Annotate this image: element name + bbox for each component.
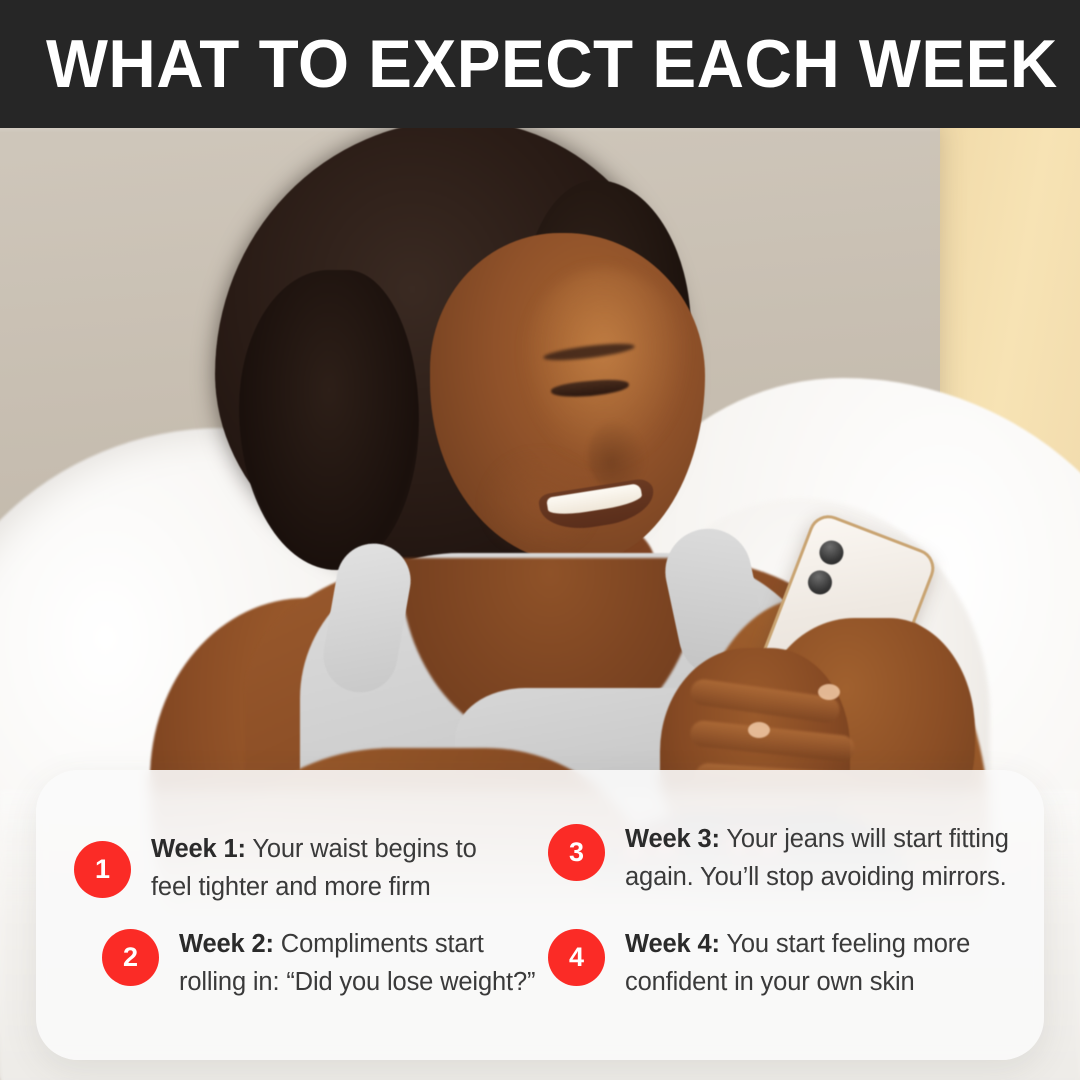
camera-lens-icon <box>816 537 847 568</box>
header-bar: WHAT TO EXPECT EACH WEEK <box>0 0 1080 128</box>
week-badge-3: 3 <box>548 824 605 881</box>
week-badge-1: 1 <box>74 841 131 898</box>
week-badge-4: 4 <box>548 929 605 986</box>
week-label-3: Week 3: <box>625 825 720 853</box>
week-text-4: Week 4: You start feeling more confident… <box>625 925 1014 1001</box>
page-title: WHAT TO EXPECT EACH WEEK <box>46 30 1058 98</box>
week-label-4: Week 4: <box>625 930 720 958</box>
week-text-1: Week 1: Your waist begins to feel tighte… <box>151 830 521 906</box>
fingernail <box>818 684 840 700</box>
weeks-card: 1 Week 1: Your waist begins to feel tigh… <box>36 770 1044 1060</box>
week-item-2: 2 Week 2: Compliments start rolling in: … <box>74 915 540 1018</box>
week-item-3: 3 Week 3: Your jeans will start fitting … <box>548 812 1014 915</box>
fingernail <box>748 722 770 738</box>
camera-lens-icon <box>804 567 835 598</box>
week-text-3: Week 3: Your jeans will start fitting ag… <box>625 820 1014 896</box>
week-label-2: Week 2: <box>179 930 274 958</box>
week-item-1: 1 Week 1: Your waist begins to feel tigh… <box>74 812 540 915</box>
week-badge-2: 2 <box>102 929 159 986</box>
promo-graphic: WHAT TO EXPECT EACH WEEK <box>0 0 1080 1080</box>
week-item-4: 4 Week 4: You start feeling more confide… <box>548 915 1014 1018</box>
week-text-2: Week 2: Compliments start rolling in: “D… <box>179 925 540 1001</box>
week-label-1: Week 1: <box>151 835 246 863</box>
